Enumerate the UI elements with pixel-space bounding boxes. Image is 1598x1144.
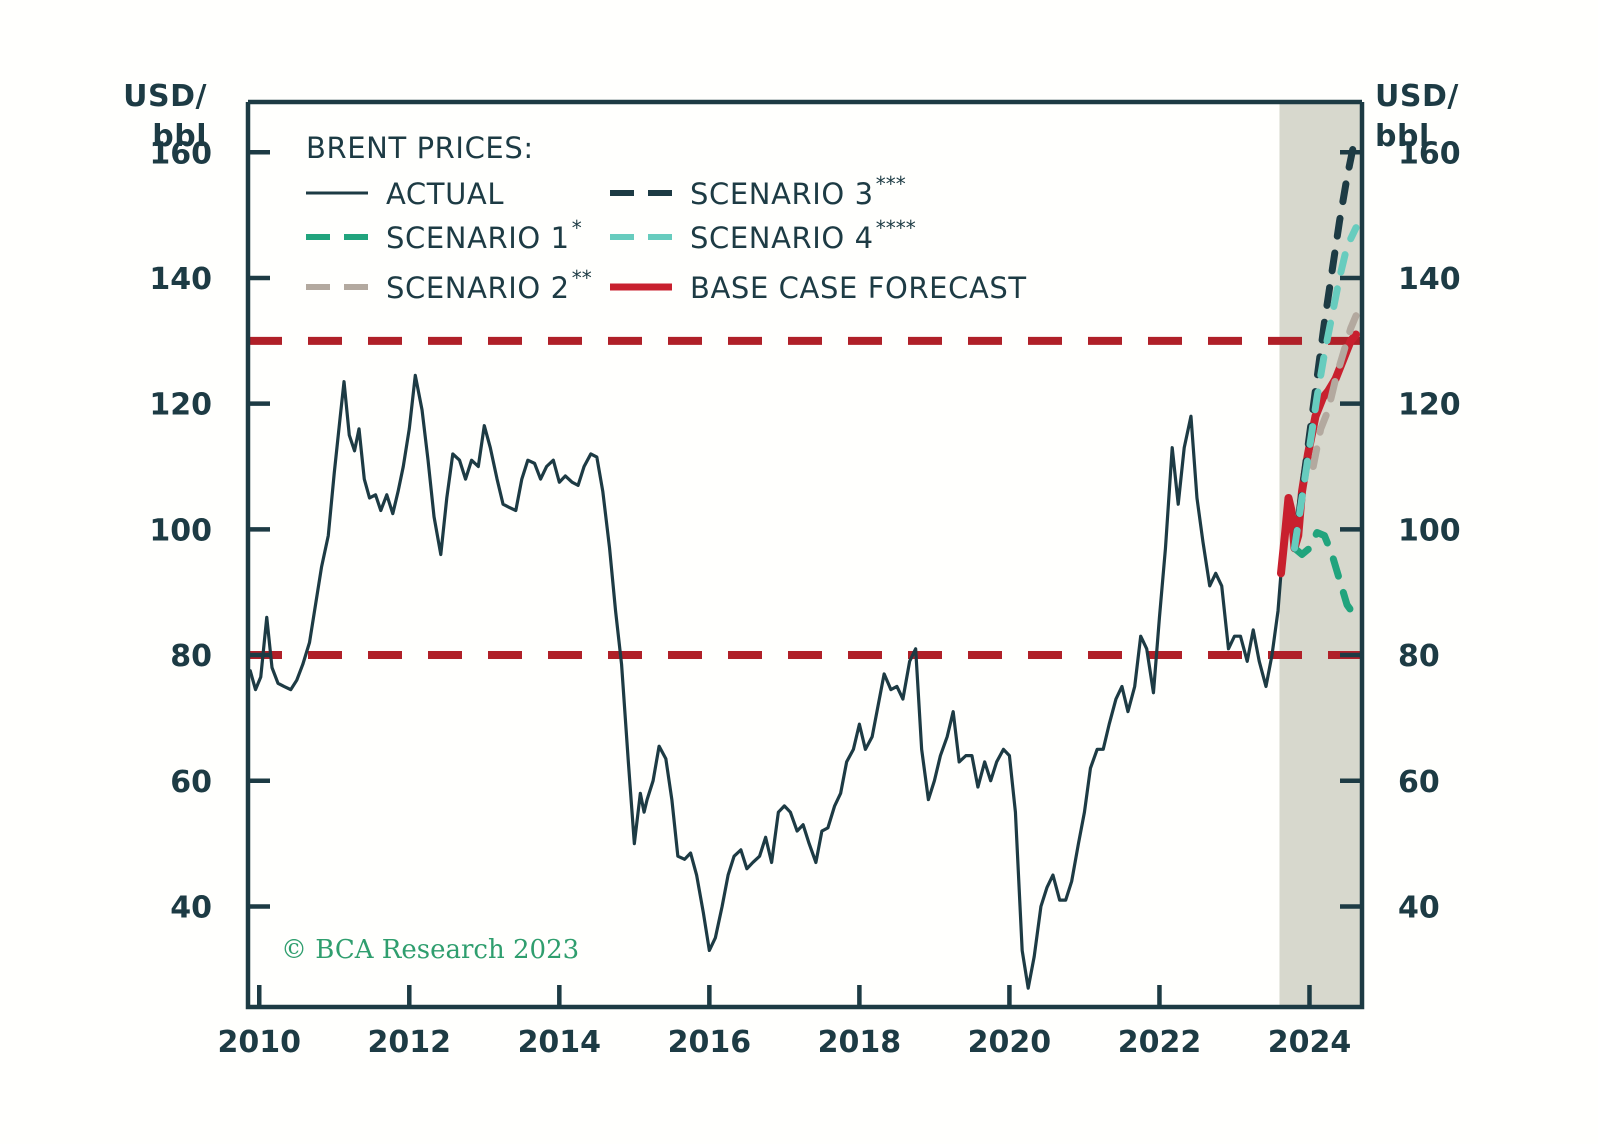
legend-label: SCENARIO 2 <box>386 271 570 305</box>
legend-superscript: **** <box>876 216 916 240</box>
axis-unit-right-line1: USD/ <box>1375 79 1459 114</box>
y-tick-label-right-60: 60 <box>1398 765 1440 800</box>
axis-unit-left-line1: USD/ <box>123 79 207 114</box>
y-tick-label-right-120: 120 <box>1398 388 1461 423</box>
axis-unit-right-line2: bbl <box>1375 119 1430 154</box>
brent-prices-chart: 4040606080801001001201201401401601602010… <box>0 0 1598 1144</box>
legend-item-scenario-3[interactable]: SCENARIO 3*** <box>610 172 906 211</box>
data-series-layer <box>250 133 1356 988</box>
copyright-notice: © BCA Research 2023 <box>281 935 579 965</box>
y-tick-label-right-80: 80 <box>1398 639 1440 674</box>
legend-label: ACTUAL <box>386 177 504 211</box>
axis-unit-left: USD/ bbl <box>123 79 207 154</box>
y-tick-label-right-140: 140 <box>1398 262 1461 297</box>
legend-item-base-case-forecast[interactable]: BASE CASE FORECAST <box>610 271 1027 305</box>
legend-superscript: ** <box>572 266 592 290</box>
y-tick-label-left-120: 120 <box>149 388 212 423</box>
y-tick-label-left-60: 60 <box>170 765 212 800</box>
legend-item-scenario-4[interactable]: SCENARIO 4**** <box>610 216 916 255</box>
legend-label: SCENARIO 1 <box>386 221 570 255</box>
y-tick-label-right-100: 100 <box>1398 513 1461 548</box>
x-tick-label-2022: 2022 <box>1118 1025 1202 1060</box>
x-tick-label-2012: 2012 <box>368 1025 452 1060</box>
x-tick-label-2018: 2018 <box>818 1025 902 1060</box>
x-tick-label-2024: 2024 <box>1268 1025 1352 1060</box>
legend-label: SCENARIO 4 <box>690 221 874 255</box>
chart-legend: BRENT PRICES: ACTUALSCENARIO 3***SCENARI… <box>306 131 1027 305</box>
x-tick-label-2020: 2020 <box>968 1025 1052 1060</box>
legend-item-scenario-2[interactable]: SCENARIO 2** <box>306 266 592 305</box>
y-tick-label-left-40: 40 <box>170 890 212 925</box>
chart-container: 4040606080801001001201201401401601602010… <box>0 0 1598 1144</box>
legend-item-actual[interactable]: ACTUAL <box>306 177 504 211</box>
legend-title: BRENT PRICES: <box>306 131 534 165</box>
y-tick-label-right-40: 40 <box>1398 890 1440 925</box>
legend-label: SCENARIO 3 <box>690 177 874 211</box>
axis-unit-left-line2: bbl <box>152 119 207 154</box>
legend-item-scenario-1[interactable]: SCENARIO 1* <box>306 216 582 255</box>
x-tick-label-2010: 2010 <box>218 1025 302 1060</box>
series-path-actual <box>250 375 1281 988</box>
legend-superscript: *** <box>876 172 906 196</box>
x-tick-label-2016: 2016 <box>668 1025 752 1060</box>
x-tick-label-2014: 2014 <box>518 1025 602 1060</box>
legend-superscript: * <box>572 216 582 240</box>
y-tick-label-left-140: 140 <box>149 262 212 297</box>
y-tick-label-left-100: 100 <box>149 513 212 548</box>
legend-label: BASE CASE FORECAST <box>690 271 1027 305</box>
y-tick-label-left-80: 80 <box>170 639 212 674</box>
